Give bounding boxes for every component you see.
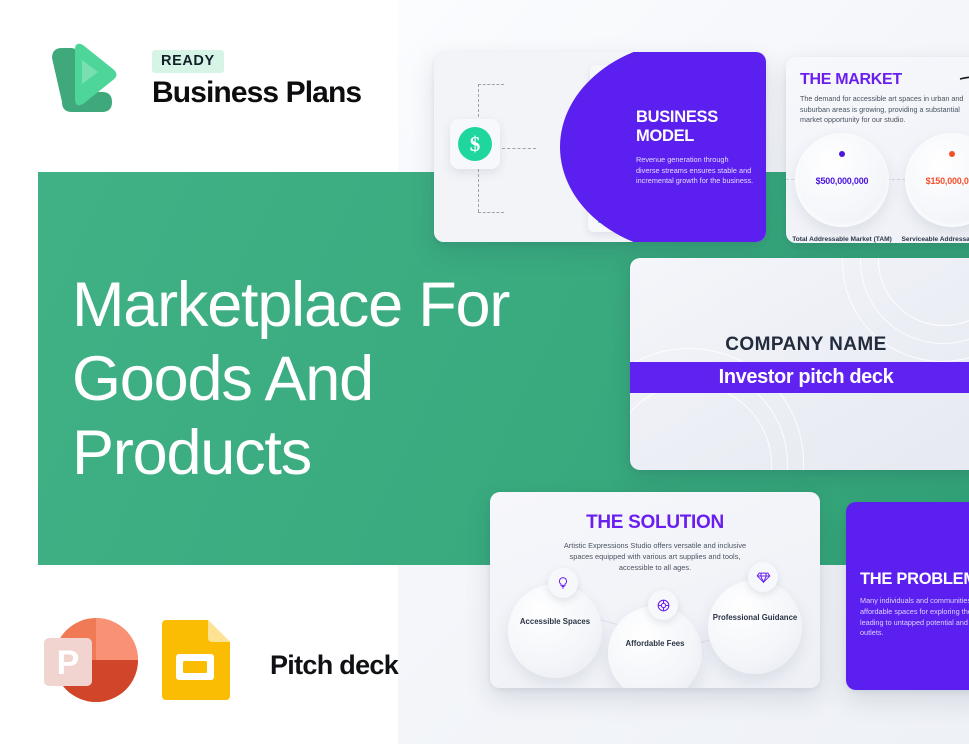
- connector-line: [478, 84, 504, 85]
- diamond-icon: [748, 562, 778, 592]
- metric-caption: Total Addressable Market (TAM): [787, 235, 897, 243]
- slide-company-title[interactable]: COMPANY NAME Investor pitch deck: [630, 258, 969, 470]
- poster-canvas: READY Business Plans Marketplace For Goo…: [0, 0, 969, 744]
- metric-dot: [949, 151, 955, 157]
- purple-blob-shape: [560, 52, 766, 242]
- node-label: Professional Guidance: [708, 612, 802, 623]
- slide-the-market[interactable]: THE MARKET The demand for accessible art…: [786, 57, 969, 243]
- curved-arrow-icon: [958, 73, 969, 111]
- powerpoint-file-icon: P: [42, 614, 138, 706]
- slide-title: THE SOLUTION: [490, 512, 820, 534]
- slide-business-model[interactable]: $ Drop-in Fees Session Workshops Commiss…: [434, 52, 766, 242]
- market-metric-sam: $150,000,000: [905, 133, 969, 227]
- slide-description: Artistic Expressions Studio offers versa…: [560, 540, 750, 573]
- revenue-icon-tile: $: [450, 119, 500, 169]
- company-name: COMPANY NAME: [630, 334, 969, 356]
- lightbulb-icon: [548, 568, 578, 598]
- node-label: Affordable Fees: [608, 638, 702, 649]
- target-icon: [648, 590, 678, 620]
- slide-description: The demand for accessible art spaces in …: [800, 94, 968, 126]
- slide-title: BUSINESS MODEL: [636, 108, 754, 146]
- ready-badge: READY: [152, 50, 224, 73]
- google-slides-file-icon: [160, 620, 230, 700]
- market-metric-tam: $500,000,000: [795, 133, 889, 227]
- format-label: Pitch deck: [270, 650, 398, 681]
- slide-subtitle: Investor pitch deck: [630, 362, 969, 393]
- play-triangle-logo-icon: [42, 38, 120, 120]
- slide-description: Revenue generation through diverse strea…: [636, 155, 754, 187]
- slide-title: THE PROBLEM: [860, 570, 969, 589]
- node-label: Accessible Spaces: [508, 616, 602, 627]
- metric-caption: Serviceable Addressable Market (SAM): [897, 235, 969, 243]
- metric-value: $150,000,000: [905, 176, 969, 186]
- subtitle-band: Investor pitch deck: [630, 362, 969, 393]
- metric-dot: [839, 151, 845, 157]
- brand-logo[interactable]: READY Business Plans: [42, 36, 372, 122]
- svg-text:P: P: [57, 644, 80, 682]
- connector-line: [478, 212, 504, 213]
- page-title: Marketplace For Goods And Products: [72, 268, 612, 490]
- connector-line: [502, 148, 536, 149]
- solution-node[interactable]: Accessible Spaces: [508, 584, 602, 678]
- dollar-sign-icon: $: [458, 127, 492, 161]
- solution-node[interactable]: Professional Guidance: [708, 580, 802, 674]
- slide-title: THE MARKET: [800, 71, 902, 89]
- solution-node[interactable]: Affordable Fees: [608, 606, 702, 688]
- slide-description: Many individuals and communities lack ac…: [860, 596, 969, 639]
- metric-value: $500,000,000: [795, 176, 889, 186]
- brand-name: Business Plans: [152, 76, 361, 110]
- slide-the-solution[interactable]: THE SOLUTION Artistic Expressions Studio…: [490, 492, 820, 688]
- slide-the-problem[interactable]: THE PROBLEM Many individuals and communi…: [846, 502, 969, 690]
